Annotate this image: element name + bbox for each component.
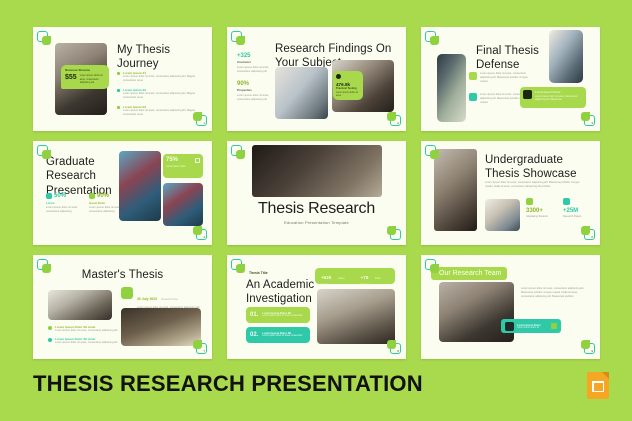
slide-thumbnail-3[interactable]: Final Thesis Defense Lorem ipsum dolor s…: [421, 27, 600, 131]
slide-body: Lorem ipsum dolor sit amet, consectetur …: [521, 287, 586, 299]
bullet-marker: [117, 106, 120, 109]
stat-label: Sit Amet: [361, 284, 381, 286]
slide-photo: [119, 151, 161, 221]
slide-title: Graduate Research Presentation: [46, 155, 118, 198]
list-body: Lorem ipsum dolor sit amet, consectetur …: [480, 72, 531, 84]
slide-thumbnail-2[interactable]: Research Findings On Your Subject +325 C…: [227, 27, 406, 131]
brand-logo-icon: [581, 112, 596, 127]
list-icon: [469, 72, 477, 80]
stat-value: 90%: [97, 193, 109, 199]
dot-icon: [336, 74, 341, 79]
slide-thumbnail-8[interactable]: Thesis Title An Academic Investigation +…: [227, 255, 406, 359]
brand-logo-icon: [231, 145, 246, 160]
slide-title: My Thesis Journey: [117, 43, 201, 72]
stat-badge-label: Practical Testing: [336, 87, 360, 90]
brand-logo-icon: [387, 340, 402, 355]
stat-badge-body: Lorem ipsum dolor sit amet: [336, 92, 360, 98]
cover-photo: [252, 145, 382, 197]
stat-label: Lorem: [46, 201, 80, 205]
brand-logo-icon: [37, 31, 52, 46]
bullet-marker: [117, 89, 120, 92]
step-body: Lorem ipsum dolor sit amet consectetur: [262, 335, 302, 338]
cover-subtitle: Education Presentation Template: [227, 220, 406, 225]
slide-title: Undergraduate Thesis Showcase: [485, 153, 589, 182]
date-card-date: 30 July 2023: [137, 297, 157, 301]
stats-bar: +625 Lorem Ipsum +79 Dolor Sit Amet: [315, 268, 395, 284]
callout-card: Lorem Ipsum Dolor Lorem ipsum dolor sit …: [520, 87, 586, 108]
step-card: 01. Lorem Ipsum Dolor Sit Lorem ipsum do…: [246, 307, 310, 323]
cursor-icon: [523, 90, 532, 99]
checklist-body: Lorem ipsum dolor sit amet, consectetur …: [55, 329, 117, 333]
stat-unit: Lorem: [338, 277, 345, 280]
slide-photo: [434, 149, 477, 231]
slide-thumbnail-1[interactable]: Revenue Streams $55 Lorem ipsum dolor si…: [33, 27, 212, 131]
revenue-card-value: $55: [65, 74, 77, 81]
brand-logo-icon: [387, 112, 402, 127]
stat-icon: [526, 198, 533, 205]
revenue-card: Revenue Streams $55 Lorem ipsum dolor si…: [61, 65, 109, 89]
check-icon: [48, 326, 52, 330]
stat-value: +325: [237, 53, 271, 59]
stat-value: 50%: [54, 193, 66, 199]
step-number: 02.: [250, 332, 258, 338]
footer-title: THESIS RESEARCH PRESENTATION: [33, 371, 423, 397]
stat-label: Properties: [237, 88, 271, 92]
stat-value: 90%: [237, 81, 271, 87]
slide-thumbnail-6[interactable]: Undergraduate Thesis Showcase Lorem ipsu…: [421, 141, 600, 245]
slide-photo: [317, 289, 395, 344]
stat-value: +625: [321, 275, 331, 280]
brand-logo-icon: [425, 31, 440, 46]
slide-photo: [48, 290, 112, 320]
callout-heading: Lorem Ipsum Dolor: [535, 90, 583, 94]
revenue-card-label: Revenue Streams: [65, 68, 105, 72]
callout-body: Lorem ipsum dolor sit amet, consectetur …: [535, 95, 583, 102]
stat-icon: [563, 198, 570, 205]
step-card: 02. Lorem Ipsum Dolor Sit Lorem ipsum do…: [246, 327, 310, 343]
brand-logo-icon: [193, 112, 208, 127]
slide-thumbnail-grid: Revenue Streams $55 Lorem ipsum dolor si…: [33, 27, 599, 359]
check-icon: [48, 338, 52, 342]
stat-value: +25M: [563, 208, 589, 214]
title-pill: Our Research Team: [431, 267, 507, 280]
team-badge-body: Lorem ipsum dolor sit: [517, 327, 541, 329]
stat-label: Ipsum Dolor: [89, 201, 123, 205]
brand-logo-icon: [425, 259, 440, 274]
step-body: Lorem ipsum dolor sit amet consectetur: [262, 315, 302, 318]
slide-thumbnail-9[interactable]: Our Research Team Lorem ipsum dolor sit …: [421, 255, 600, 359]
slide-photo: [275, 67, 328, 119]
checklist-body: Lorem ipsum dolor sit amet, consectetur …: [55, 341, 117, 345]
slide-eyebrow: Thesis Title: [249, 271, 268, 275]
stat-value: 3300+: [526, 208, 552, 214]
slide-photo-phone: [437, 54, 466, 122]
brand-logo-icon: [387, 226, 402, 241]
brand-logo-icon: [231, 259, 246, 274]
brand-logo-icon: [193, 340, 208, 355]
list-icon: [469, 93, 477, 101]
bullet-marker: [117, 72, 120, 75]
slide-photo: [439, 282, 514, 342]
brand-logo-icon: [193, 226, 208, 241]
stat-label: Customer: [237, 60, 271, 64]
brand-logo-icon: [581, 340, 596, 355]
stat-label: Graduating Students: [526, 215, 552, 218]
arrow-icon: [551, 323, 557, 329]
stat-body: Lorem ipsum dolor sit amet, consectetur …: [237, 94, 271, 102]
slide-title: Master's Thesis: [33, 268, 212, 282]
slide-title: Final Thesis Defense: [476, 44, 546, 73]
google-slides-icon: [587, 372, 609, 399]
slide-thumbnail-5-cover[interactable]: Thesis Research Education Presentation T…: [227, 141, 406, 245]
slide-photo: [163, 183, 203, 226]
bullet-body: Lorem ipsum dolor sit amet, consectetur …: [123, 92, 203, 100]
slide-title: An Academic Investigation: [246, 278, 326, 307]
stat-icon: [46, 193, 52, 199]
date-card-tag: Research Day: [161, 298, 177, 301]
stat-label: Ipsum: [321, 284, 345, 286]
stat-badge-value: 75%: [166, 157, 178, 163]
brand-logo-icon: [581, 226, 596, 241]
stat-body: Lorem ipsum dolor sit amet, consectetur …: [237, 66, 271, 74]
slide-thumbnail-4[interactable]: Graduate Research Presentation 50% Lorem…: [33, 141, 212, 245]
stat-body: Lorem ipsum dolor sit amet, consectetur …: [89, 206, 123, 214]
brand-logo-icon: [37, 259, 52, 274]
stat-unit: Dolor: [375, 277, 381, 280]
cover-title: Thesis Research: [227, 200, 406, 218]
people-icon: [505, 322, 514, 331]
slide-photo: [121, 308, 201, 346]
revenue-card-body: Lorem ipsum dolor sit amet, consectetur …: [80, 74, 105, 85]
slide-title: Our Research Team: [439, 270, 502, 277]
slide-photo: [485, 199, 520, 231]
step-number: 01.: [250, 312, 258, 318]
bullet-body: Lorem ipsum dolor sit amet, consectetur …: [123, 109, 203, 117]
stat-badge: 476.8k Practical Testing Lorem ipsum dol…: [333, 71, 363, 100]
stat-body: Lorem ipsum dolor sit amet, consectetur …: [46, 206, 80, 214]
team-badge: Lorem Ipsum Dolor Lorem ipsum dolor sit: [501, 319, 561, 333]
brand-logo-icon: [425, 145, 440, 160]
stat-value: +79: [361, 275, 369, 280]
stat-label: Research Papers: [563, 215, 589, 218]
calendar-icon: [121, 287, 133, 299]
stat-badge: 75% Lorem ipsum dolor: [163, 154, 203, 178]
brand-logo-icon: [231, 31, 246, 46]
slide-photo-phone: [549, 30, 583, 83]
arrow-icon: [195, 158, 200, 163]
bullet-body: Lorem ipsum dolor sit amet, consectetur …: [123, 75, 203, 83]
brand-logo-icon: [37, 145, 52, 160]
slide-body: Lorem ipsum dolor sit amet, consectetur …: [485, 181, 585, 189]
stat-icon: [89, 193, 95, 199]
slide-thumbnail-7[interactable]: Master's Thesis Lorem Ipsum Dolor Sit Am…: [33, 255, 212, 359]
stat-badge-label: Lorem ipsum dolor: [166, 165, 200, 168]
